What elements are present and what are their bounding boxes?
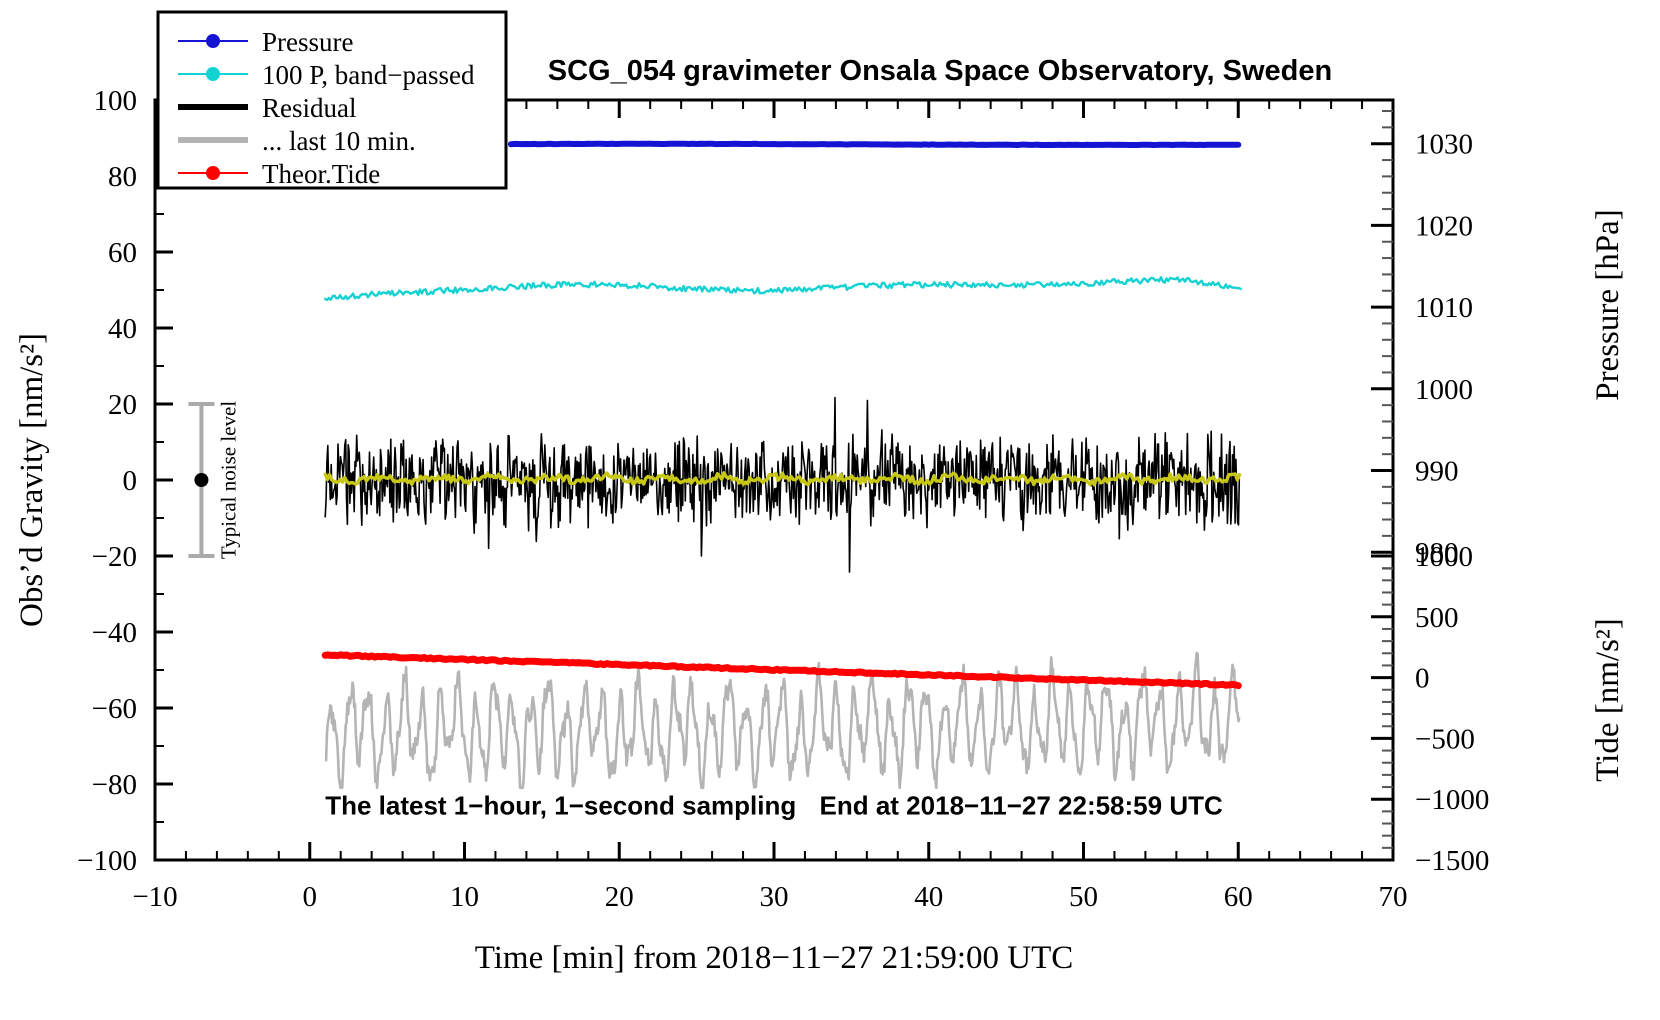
legend-swatch-dot bbox=[206, 166, 220, 180]
tide-tick-label: −1000 bbox=[1415, 784, 1489, 816]
y-tick-label: −100 bbox=[77, 845, 137, 877]
sampling-note: The latest 1−hour, 1−second sampling bbox=[325, 790, 796, 820]
end-time-note: End at 2018−11−27 22:58:59 UTC bbox=[820, 790, 1223, 820]
chart-title: SCG_054 gravimeter Onsala Space Observat… bbox=[548, 55, 1332, 87]
y-tick-label: 0 bbox=[123, 465, 138, 497]
series-residual bbox=[325, 398, 1239, 573]
legend-label: ... last 10 min. bbox=[262, 126, 416, 156]
gravimeter-chart: −10010203040506070Time [min] from 2018−1… bbox=[0, 0, 1660, 1020]
legend: Pressure100 P, band−passedResidual... la… bbox=[158, 12, 506, 189]
y-tick-label: −20 bbox=[92, 541, 137, 573]
x-tick-label: 20 bbox=[605, 881, 634, 913]
x-tick-label: 30 bbox=[760, 881, 789, 913]
y-tick-label: 60 bbox=[108, 237, 137, 269]
x-tick-label: 10 bbox=[450, 881, 479, 913]
tide-tick-label: −500 bbox=[1415, 723, 1475, 755]
x-tick-label: 60 bbox=[1224, 881, 1253, 913]
y-tick-label: 40 bbox=[108, 313, 137, 345]
y-tick-label: 100 bbox=[94, 85, 138, 117]
legend-swatch-dot bbox=[206, 34, 220, 48]
series-pressure-bandpassed bbox=[325, 277, 1240, 300]
y-axis-pressure: 1030102010101000990980 bbox=[1371, 111, 1473, 569]
y-axis-tide: 10005000−500−1000−1500 bbox=[1371, 541, 1489, 877]
y-tick-label: 20 bbox=[108, 389, 137, 421]
chart-page: −10010203040506070Time [min] from 2018−1… bbox=[0, 0, 1660, 1020]
y-axis-left: 100806040200−20−40−60−80−100 bbox=[77, 85, 173, 877]
x-tick-label: −10 bbox=[132, 881, 177, 913]
series-pressure bbox=[511, 144, 1238, 145]
tide-tick-label: 0 bbox=[1415, 663, 1430, 695]
noise-center-dot bbox=[194, 473, 208, 487]
pressure-tick-label: 1000 bbox=[1415, 374, 1473, 406]
legend-swatch-dot bbox=[206, 67, 220, 81]
legend-label: Residual bbox=[262, 93, 357, 123]
legend-label: Theor.Tide bbox=[262, 159, 380, 189]
x-tick-label: 70 bbox=[1379, 881, 1408, 913]
x-tick-label: 0 bbox=[303, 881, 318, 913]
y-tick-label: 80 bbox=[108, 161, 137, 193]
pressure-tick-label: 1010 bbox=[1415, 292, 1473, 324]
pressure-tick-label: 1030 bbox=[1415, 129, 1473, 161]
tide-tick-label: 500 bbox=[1415, 602, 1459, 634]
pressure-tick-label: 990 bbox=[1415, 456, 1459, 488]
y-axis-title: Obs’d Gravity [nm/s²] bbox=[14, 333, 50, 627]
legend-label: Pressure bbox=[262, 27, 353, 57]
y-tick-label: −80 bbox=[92, 769, 137, 801]
pressure-axis-title: Pressure [hPa] bbox=[1590, 209, 1626, 401]
x-tick-label: 40 bbox=[914, 881, 943, 913]
series-theoretical-tide bbox=[325, 655, 1238, 686]
legend-label: 100 P, band−passed bbox=[262, 60, 475, 90]
y-tick-label: −60 bbox=[92, 693, 137, 725]
pressure-tick-label: 1020 bbox=[1415, 210, 1473, 242]
tide-tick-label: 1000 bbox=[1415, 541, 1473, 573]
tide-axis-title: Tide [nm/s²] bbox=[1590, 618, 1626, 782]
x-tick-label: 50 bbox=[1069, 881, 1098, 913]
y-tick-label: −40 bbox=[92, 617, 137, 649]
typical-noise-marker: Typical noise level bbox=[188, 401, 240, 559]
x-axis-title: Time [min] from 2018−11−27 21:59:00 UTC bbox=[475, 940, 1074, 976]
tide-tick-label: −1500 bbox=[1415, 845, 1489, 877]
noise-label: Typical noise level bbox=[216, 401, 240, 559]
